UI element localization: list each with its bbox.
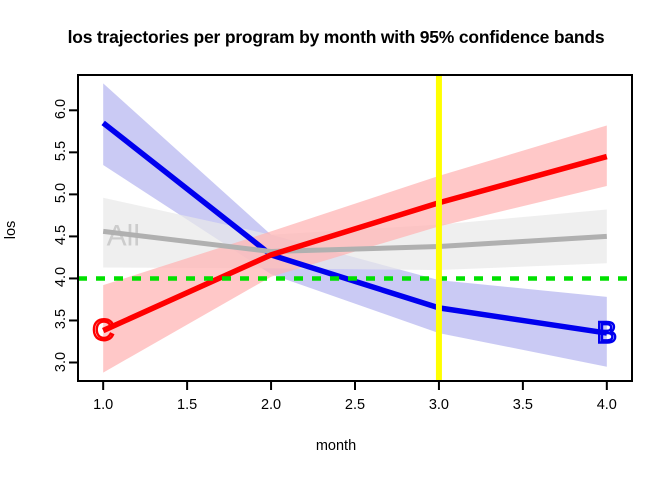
x-axis-label: month <box>0 438 672 454</box>
x-tick-label: 4.0 <box>577 397 637 413</box>
chart-canvas: los trajectories per program by month wi… <box>0 0 672 480</box>
x-tick-label: 3.5 <box>493 397 553 413</box>
series-point-b: B <box>597 317 617 350</box>
x-tick-label: 2.0 <box>241 397 301 413</box>
y-tick-label: 6.0 <box>53 79 69 139</box>
series-point-c: C <box>92 314 114 347</box>
x-tick-label: 1.5 <box>157 397 217 413</box>
x-tick-label: 1.0 <box>73 397 133 413</box>
x-tick-label: 2.5 <box>325 397 385 413</box>
x-tick-label: 3.0 <box>409 397 469 413</box>
y-axis-label: los <box>3 210 19 250</box>
